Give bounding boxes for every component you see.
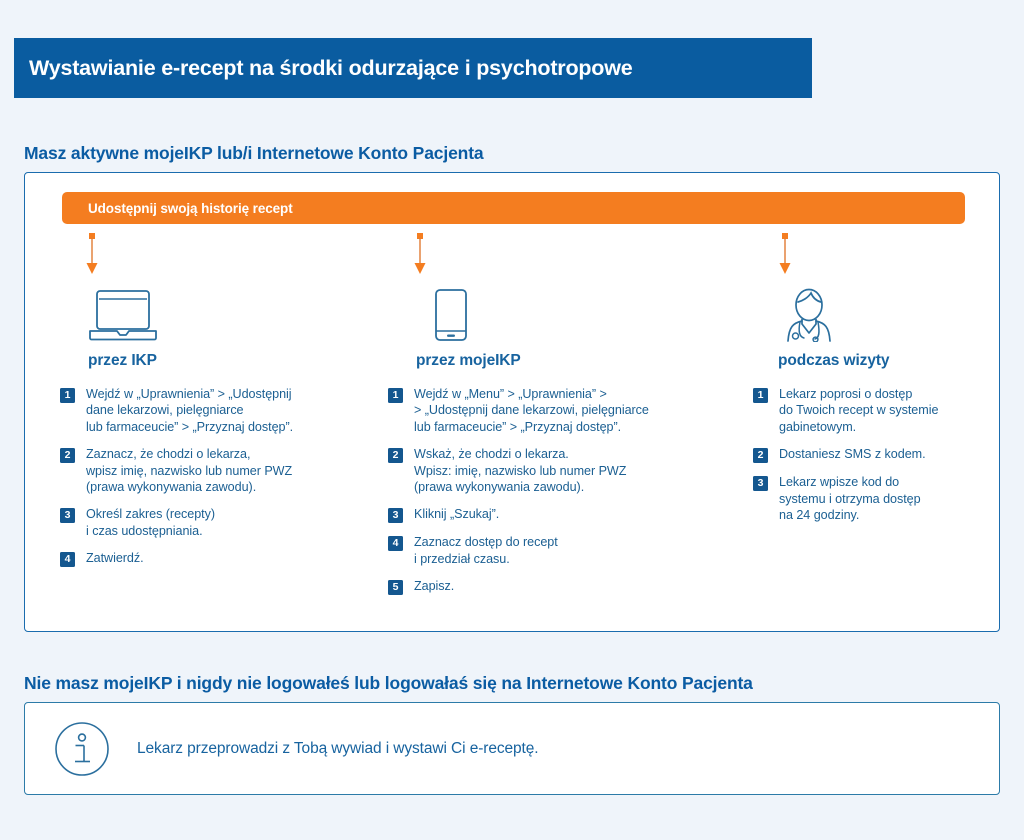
- info-icon: [53, 720, 111, 778]
- doctor-icon: [778, 288, 840, 342]
- step-item: 2 Zaznacz, że chodzi o lekarza, wpisz im…: [60, 446, 370, 495]
- smartphone-icon: [416, 288, 486, 342]
- step-item: 1 Wejdź w „Uprawnienia” > „Udostępnij da…: [60, 386, 370, 435]
- step-text: Zapisz.: [414, 578, 454, 594]
- step-number-badge: 2: [753, 448, 768, 463]
- step-item: 1 Wejdź w „Menu” > „Uprawnienia” > > „Ud…: [388, 386, 698, 435]
- step-text: Zatwierdź.: [86, 550, 144, 566]
- step-number-badge: 2: [388, 448, 403, 463]
- info-card: Lekarz przeprowadzi z Tobą wywiad i wyst…: [24, 702, 1000, 795]
- step-number-badge: 3: [388, 508, 403, 523]
- down-arrow-icon: [413, 233, 427, 275]
- step-text: Lekarz poprosi o dostęp do Twoich recept…: [779, 386, 938, 435]
- step-number-badge: 5: [388, 580, 403, 595]
- step-text: Określ zakres (recepty) i czas udostępni…: [86, 506, 215, 539]
- step-item: 4 Zaznacz dostęp do recept i przedział c…: [388, 534, 698, 567]
- section-heading-bottom: Nie masz mojeIKP i nigdy nie logowałeś l…: [24, 673, 753, 694]
- step-text: Kliknij „Szukaj”.: [414, 506, 499, 522]
- laptop-icon: [88, 288, 158, 342]
- method-column-visit: podczas wizyty 1 Lekarz poprosi o dostęp…: [753, 288, 993, 539]
- step-item: 1 Lekarz poprosi o dostęp do Twoich rece…: [753, 386, 993, 435]
- step-text: Zaznacz dostęp do recept i przedział cza…: [414, 534, 558, 567]
- step-text: Zaznacz, że chodzi o lekarza, wpisz imię…: [86, 446, 292, 495]
- section-heading-top: Masz aktywne mojeIKP lub/i Internetowe K…: [24, 143, 483, 164]
- step-text: Wskaż, że chodzi o lekarza. Wpisz: imię,…: [414, 446, 626, 495]
- step-item: 2 Wskaż, że chodzi o lekarza. Wpisz: imi…: [388, 446, 698, 495]
- step-item: 4 Zatwierdź.: [60, 550, 370, 567]
- steps-list: 1 Wejdź w „Menu” > „Uprawnienia” > > „Ud…: [388, 386, 698, 595]
- step-number-badge: 1: [753, 388, 768, 403]
- info-card-text: Lekarz przeprowadzi z Tobą wywiad i wyst…: [137, 740, 539, 758]
- step-number-badge: 3: [753, 476, 768, 491]
- method-column-mojeikp: przez mojeIKP 1 Wejdź w „Menu” > „Uprawn…: [388, 288, 698, 611]
- step-number-badge: 1: [388, 388, 403, 403]
- steps-list: 1 Wejdź w „Uprawnienia” > „Udostępnij da…: [60, 386, 370, 567]
- step-item: 5 Zapisz.: [388, 578, 698, 595]
- step-number-badge: 4: [388, 536, 403, 551]
- share-prescription-history-bar: Udostępnij swoją historię recept: [62, 192, 965, 224]
- step-item: 3 Określ zakres (recepty) i czas udostęp…: [60, 506, 370, 539]
- step-item: 3 Lekarz wpisze kod do systemu i otrzyma…: [753, 474, 993, 523]
- step-text: Wejdź w „Menu” > „Uprawnienia” > > „Udos…: [414, 386, 649, 435]
- steps-list: 1 Lekarz poprosi o dostęp do Twoich rece…: [753, 386, 993, 523]
- step-item: 3 Kliknij „Szukaj”.: [388, 506, 698, 523]
- step-item: 2 Dostaniesz SMS z kodem.: [753, 446, 993, 463]
- step-number-badge: 1: [60, 388, 75, 403]
- down-arrow-icon: [85, 233, 99, 275]
- page-title: Wystawianie e-recept na środki odurzając…: [29, 56, 633, 81]
- header-banner: Wystawianie e-recept na środki odurzając…: [14, 38, 812, 98]
- method-column-ikp: przez IKP 1 Wejdź w „Uprawnienia” > „Udo…: [60, 288, 370, 583]
- step-number-badge: 2: [60, 448, 75, 463]
- step-number-badge: 4: [60, 552, 75, 567]
- column-title: podczas wizyty: [778, 352, 993, 370]
- step-text: Wejdź w „Uprawnienia” > „Udostępnij dane…: [86, 386, 293, 435]
- down-arrow-icon: [778, 233, 792, 275]
- step-number-badge: 3: [60, 508, 75, 523]
- share-bar-label: Udostępnij swoją historię recept: [88, 201, 293, 216]
- step-text: Lekarz wpisze kod do systemu i otrzyma d…: [779, 474, 921, 523]
- column-title: przez mojeIKP: [416, 352, 698, 370]
- step-text: Dostaniesz SMS z kodem.: [779, 446, 926, 462]
- column-title: przez IKP: [88, 352, 370, 370]
